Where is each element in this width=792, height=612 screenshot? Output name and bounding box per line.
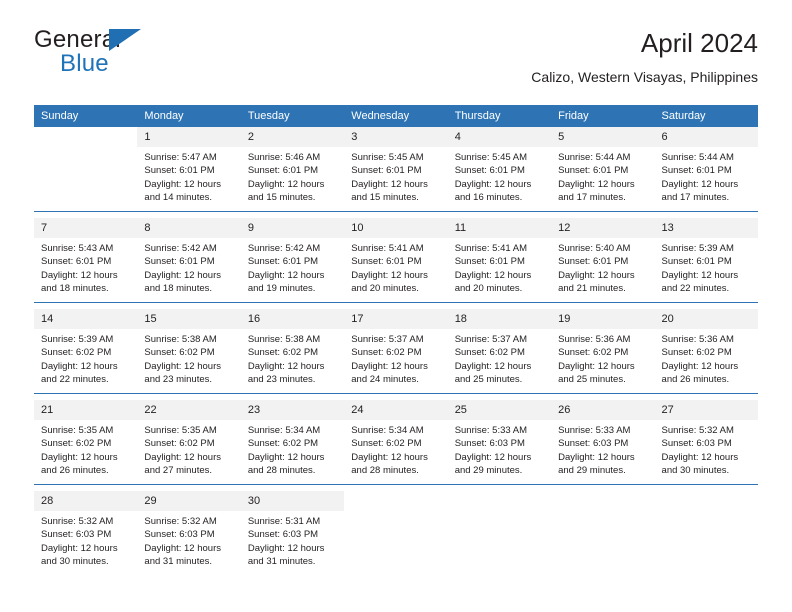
calendar-week-row: 1Sunrise: 5:47 AMSunset: 6:01 PMDaylight… — [34, 127, 758, 212]
calendar-day-cell[interactable]: 1Sunrise: 5:47 AMSunset: 6:01 PMDaylight… — [137, 127, 240, 212]
daylight-line-2: and 20 minutes. — [351, 282, 441, 295]
daylight-line-1: Daylight: 12 hours — [248, 269, 338, 282]
calendar-day-cell[interactable]: 19Sunrise: 5:36 AMSunset: 6:02 PMDayligh… — [551, 309, 654, 394]
day-number: 26 — [551, 400, 654, 420]
day-cell-inner: 12Sunrise: 5:40 AMSunset: 6:01 PMDayligh… — [551, 218, 654, 302]
calendar-day-cell[interactable]: 20Sunrise: 5:36 AMSunset: 6:02 PMDayligh… — [655, 309, 758, 394]
daylight-line-2: and 20 minutes. — [455, 282, 545, 295]
daylight-line-1: Daylight: 12 hours — [351, 360, 441, 373]
daylight-line-2: and 14 minutes. — [144, 191, 234, 204]
daylight-line-1: Daylight: 12 hours — [558, 360, 648, 373]
day-cell-inner: 17Sunrise: 5:37 AMSunset: 6:02 PMDayligh… — [344, 309, 447, 393]
sunrise-line: Sunrise: 5:41 AM — [455, 242, 545, 255]
sunrise-line: Sunrise: 5:32 AM — [144, 515, 234, 528]
sunrise-line: Sunrise: 5:39 AM — [41, 333, 131, 346]
calendar-empty-cell — [551, 491, 654, 575]
sunset-line: Sunset: 6:02 PM — [662, 346, 752, 359]
sunset-line: Sunset: 6:02 PM — [248, 346, 338, 359]
sunrise-line: Sunrise: 5:42 AM — [144, 242, 234, 255]
day-sun-details: Sunrise: 5:33 AMSunset: 6:03 PMDaylight:… — [448, 420, 551, 478]
day-sun-details: Sunrise: 5:44 AMSunset: 6:01 PMDaylight:… — [655, 147, 758, 205]
daylight-line-1: Daylight: 12 hours — [351, 178, 441, 191]
day-cell-inner: 28Sunrise: 5:32 AMSunset: 6:03 PMDayligh… — [34, 491, 137, 575]
calendar-day-cell[interactable]: 22Sunrise: 5:35 AMSunset: 6:02 PMDayligh… — [137, 400, 240, 485]
calendar-day-cell[interactable]: 8Sunrise: 5:42 AMSunset: 6:01 PMDaylight… — [137, 218, 240, 303]
day-number: 25 — [448, 400, 551, 420]
sunset-line: Sunset: 6:01 PM — [662, 255, 752, 268]
day-number — [34, 127, 137, 147]
daylight-line-1: Daylight: 12 hours — [248, 360, 338, 373]
daylight-line-2: and 22 minutes. — [41, 373, 131, 386]
day-sun-details: Sunrise: 5:39 AMSunset: 6:01 PMDaylight:… — [655, 238, 758, 296]
sunset-line: Sunset: 6:02 PM — [248, 437, 338, 450]
calendar-day-cell[interactable]: 16Sunrise: 5:38 AMSunset: 6:02 PMDayligh… — [241, 309, 344, 394]
sunrise-line: Sunrise: 5:40 AM — [558, 242, 648, 255]
day-cell-inner: 20Sunrise: 5:36 AMSunset: 6:02 PMDayligh… — [655, 309, 758, 393]
day-sun-details: Sunrise: 5:44 AMSunset: 6:01 PMDaylight:… — [551, 147, 654, 205]
sunrise-line: Sunrise: 5:37 AM — [351, 333, 441, 346]
day-cell-inner: 13Sunrise: 5:39 AMSunset: 6:01 PMDayligh… — [655, 218, 758, 302]
day-cell-inner: 25Sunrise: 5:33 AMSunset: 6:03 PMDayligh… — [448, 400, 551, 484]
day-number: 11 — [448, 218, 551, 238]
sunrise-sunset-calendar-table: SundayMondayTuesdayWednesdayThursdayFrid… — [34, 105, 758, 575]
weekday-header-thursday: Thursday — [448, 105, 551, 127]
day-cell-inner: 27Sunrise: 5:32 AMSunset: 6:03 PMDayligh… — [655, 400, 758, 484]
sunset-line: Sunset: 6:02 PM — [351, 346, 441, 359]
daylight-line-2: and 25 minutes. — [455, 373, 545, 386]
day-cell-inner — [34, 127, 137, 211]
calendar-day-cell[interactable]: 2Sunrise: 5:46 AMSunset: 6:01 PMDaylight… — [241, 127, 344, 212]
page-subtitle: Calizo, Western Visayas, Philippines — [531, 67, 758, 87]
day-number: 17 — [344, 309, 447, 329]
sunset-line: Sunset: 6:02 PM — [144, 437, 234, 450]
daylight-line-2: and 31 minutes. — [144, 555, 234, 568]
day-sun-details: Sunrise: 5:32 AMSunset: 6:03 PMDaylight:… — [34, 511, 137, 569]
calendar-page: General Blue April 2024 Calizo, Western … — [0, 0, 792, 612]
day-number: 18 — [448, 309, 551, 329]
day-cell-inner — [655, 491, 758, 575]
daylight-line-2: and 18 minutes. — [41, 282, 131, 295]
day-sun-details: Sunrise: 5:47 AMSunset: 6:01 PMDaylight:… — [137, 147, 240, 205]
daylight-line-2: and 18 minutes. — [144, 282, 234, 295]
day-cell-inner: 6Sunrise: 5:44 AMSunset: 6:01 PMDaylight… — [655, 127, 758, 211]
daylight-line-1: Daylight: 12 hours — [41, 360, 131, 373]
calendar-day-cell[interactable]: 27Sunrise: 5:32 AMSunset: 6:03 PMDayligh… — [655, 400, 758, 485]
daylight-line-2: and 31 minutes. — [248, 555, 338, 568]
sunset-line: Sunset: 6:01 PM — [248, 164, 338, 177]
calendar-day-cell[interactable]: 24Sunrise: 5:34 AMSunset: 6:02 PMDayligh… — [344, 400, 447, 485]
calendar-day-cell[interactable]: 4Sunrise: 5:45 AMSunset: 6:01 PMDaylight… — [448, 127, 551, 212]
day-cell-inner: 8Sunrise: 5:42 AMSunset: 6:01 PMDaylight… — [137, 218, 240, 302]
day-sun-details: Sunrise: 5:38 AMSunset: 6:02 PMDaylight:… — [241, 329, 344, 387]
calendar-day-cell[interactable]: 11Sunrise: 5:41 AMSunset: 6:01 PMDayligh… — [448, 218, 551, 303]
daylight-line-2: and 17 minutes. — [558, 191, 648, 204]
day-number — [448, 491, 551, 511]
daylight-line-1: Daylight: 12 hours — [662, 178, 752, 191]
daylight-line-2: and 15 minutes. — [351, 191, 441, 204]
sunrise-line: Sunrise: 5:41 AM — [351, 242, 441, 255]
day-cell-inner: 26Sunrise: 5:33 AMSunset: 6:03 PMDayligh… — [551, 400, 654, 484]
sunset-line: Sunset: 6:01 PM — [144, 164, 234, 177]
day-sun-details: Sunrise: 5:32 AMSunset: 6:03 PMDaylight:… — [137, 511, 240, 569]
daylight-line-1: Daylight: 12 hours — [662, 360, 752, 373]
day-number: 4 — [448, 127, 551, 147]
day-sun-details: Sunrise: 5:45 AMSunset: 6:01 PMDaylight:… — [448, 147, 551, 205]
sunrise-line: Sunrise: 5:39 AM — [662, 242, 752, 255]
page-title: April 2024 — [531, 26, 758, 60]
day-cell-inner: 30Sunrise: 5:31 AMSunset: 6:03 PMDayligh… — [241, 491, 344, 575]
day-sun-details: Sunrise: 5:33 AMSunset: 6:03 PMDaylight:… — [551, 420, 654, 478]
weekday-header-wednesday: Wednesday — [344, 105, 447, 127]
day-sun-details: Sunrise: 5:36 AMSunset: 6:02 PMDaylight:… — [655, 329, 758, 387]
daylight-line-1: Daylight: 12 hours — [144, 542, 234, 555]
sunset-line: Sunset: 6:02 PM — [41, 437, 131, 450]
day-cell-inner: 15Sunrise: 5:38 AMSunset: 6:02 PMDayligh… — [137, 309, 240, 393]
daylight-line-2: and 27 minutes. — [144, 464, 234, 477]
daylight-line-2: and 15 minutes. — [248, 191, 338, 204]
day-cell-inner — [551, 491, 654, 575]
daylight-line-2: and 26 minutes. — [41, 464, 131, 477]
daylight-line-2: and 22 minutes. — [662, 282, 752, 295]
calendar-day-cell[interactable]: 28Sunrise: 5:32 AMSunset: 6:03 PMDayligh… — [34, 491, 137, 575]
sunrise-line: Sunrise: 5:35 AM — [144, 424, 234, 437]
calendar-day-cell[interactable]: 5Sunrise: 5:44 AMSunset: 6:01 PMDaylight… — [551, 127, 654, 212]
day-number: 28 — [34, 491, 137, 511]
day-number: 30 — [241, 491, 344, 511]
day-cell-inner: 18Sunrise: 5:37 AMSunset: 6:02 PMDayligh… — [448, 309, 551, 393]
sunrise-line: Sunrise: 5:43 AM — [41, 242, 131, 255]
sunset-line: Sunset: 6:01 PM — [455, 255, 545, 268]
day-number: 1 — [137, 127, 240, 147]
day-cell-inner: 23Sunrise: 5:34 AMSunset: 6:02 PMDayligh… — [241, 400, 344, 484]
daylight-line-2: and 19 minutes. — [248, 282, 338, 295]
calendar-day-cell[interactable]: 30Sunrise: 5:31 AMSunset: 6:03 PMDayligh… — [241, 491, 344, 575]
daylight-line-2: and 16 minutes. — [455, 191, 545, 204]
day-number: 5 — [551, 127, 654, 147]
sunrise-line: Sunrise: 5:35 AM — [41, 424, 131, 437]
weekday-header-monday: Monday — [137, 105, 240, 127]
daylight-line-2: and 25 minutes. — [558, 373, 648, 386]
daylight-line-1: Daylight: 12 hours — [144, 451, 234, 464]
sunrise-line: Sunrise: 5:36 AM — [662, 333, 752, 346]
daylight-line-2: and 23 minutes. — [248, 373, 338, 386]
day-cell-inner: 4Sunrise: 5:45 AMSunset: 6:01 PMDaylight… — [448, 127, 551, 211]
daylight-line-1: Daylight: 12 hours — [248, 542, 338, 555]
daylight-line-2: and 26 minutes. — [662, 373, 752, 386]
day-number: 7 — [34, 218, 137, 238]
sunrise-line: Sunrise: 5:45 AM — [455, 151, 545, 164]
daylight-line-2: and 29 minutes. — [455, 464, 545, 477]
calendar-day-cell[interactable]: 17Sunrise: 5:37 AMSunset: 6:02 PMDayligh… — [344, 309, 447, 394]
day-number: 27 — [655, 400, 758, 420]
sunset-line: Sunset: 6:03 PM — [455, 437, 545, 450]
sunrise-line: Sunrise: 5:45 AM — [351, 151, 441, 164]
sunrise-line: Sunrise: 5:38 AM — [248, 333, 338, 346]
day-cell-inner: 21Sunrise: 5:35 AMSunset: 6:02 PMDayligh… — [34, 400, 137, 484]
sunset-line: Sunset: 6:02 PM — [144, 346, 234, 359]
daylight-line-1: Daylight: 12 hours — [558, 269, 648, 282]
sunrise-line: Sunrise: 5:33 AM — [558, 424, 648, 437]
day-cell-inner: 10Sunrise: 5:41 AMSunset: 6:01 PMDayligh… — [344, 218, 447, 302]
day-number: 29 — [137, 491, 240, 511]
day-number: 23 — [241, 400, 344, 420]
calendar-empty-cell — [344, 491, 447, 575]
sunrise-line: Sunrise: 5:32 AM — [662, 424, 752, 437]
daylight-line-1: Daylight: 12 hours — [455, 178, 545, 191]
page-header: General Blue April 2024 Calizo, Western … — [34, 26, 758, 96]
calendar-day-cell[interactable]: 12Sunrise: 5:40 AMSunset: 6:01 PMDayligh… — [551, 218, 654, 303]
day-cell-inner: 22Sunrise: 5:35 AMSunset: 6:02 PMDayligh… — [137, 400, 240, 484]
day-cell-inner: 3Sunrise: 5:45 AMSunset: 6:01 PMDaylight… — [344, 127, 447, 211]
weekday-header-row: SundayMondayTuesdayWednesdayThursdayFrid… — [34, 105, 758, 127]
sunrise-line: Sunrise: 5:38 AM — [144, 333, 234, 346]
sunset-line: Sunset: 6:03 PM — [144, 528, 234, 541]
day-number — [551, 491, 654, 511]
sunset-line: Sunset: 6:01 PM — [351, 255, 441, 268]
day-number: 15 — [137, 309, 240, 329]
day-number — [344, 491, 447, 511]
brand-logo[interactable]: General Blue — [34, 26, 264, 84]
day-number: 16 — [241, 309, 344, 329]
day-cell-inner: 16Sunrise: 5:38 AMSunset: 6:02 PMDayligh… — [241, 309, 344, 393]
sunset-line: Sunset: 6:03 PM — [662, 437, 752, 450]
day-number: 2 — [241, 127, 344, 147]
weekday-header-friday: Friday — [551, 105, 654, 127]
day-number: 9 — [241, 218, 344, 238]
title-block: April 2024 Calizo, Western Visayas, Phil… — [531, 26, 758, 87]
calendar-day-cell[interactable]: 13Sunrise: 5:39 AMSunset: 6:01 PMDayligh… — [655, 218, 758, 303]
daylight-line-1: Daylight: 12 hours — [558, 451, 648, 464]
calendar-day-cell[interactable]: 14Sunrise: 5:39 AMSunset: 6:02 PMDayligh… — [34, 309, 137, 394]
day-sun-details: Sunrise: 5:37 AMSunset: 6:02 PMDaylight:… — [344, 329, 447, 387]
day-sun-details: Sunrise: 5:42 AMSunset: 6:01 PMDaylight:… — [137, 238, 240, 296]
daylight-line-2: and 23 minutes. — [144, 373, 234, 386]
daylight-line-1: Daylight: 12 hours — [144, 269, 234, 282]
calendar-week-row: 21Sunrise: 5:35 AMSunset: 6:02 PMDayligh… — [34, 400, 758, 485]
weekday-header-sunday: Sunday — [34, 105, 137, 127]
calendar-day-cell[interactable]: 7Sunrise: 5:43 AMSunset: 6:01 PMDaylight… — [34, 218, 137, 303]
day-number — [655, 491, 758, 511]
calendar-empty-cell — [655, 491, 758, 575]
calendar-day-cell[interactable]: 6Sunrise: 5:44 AMSunset: 6:01 PMDaylight… — [655, 127, 758, 212]
weekday-header-tuesday: Tuesday — [241, 105, 344, 127]
calendar-week-row: 14Sunrise: 5:39 AMSunset: 6:02 PMDayligh… — [34, 309, 758, 394]
daylight-line-2: and 17 minutes. — [662, 191, 752, 204]
triangle-flag-icon — [109, 29, 141, 51]
daylight-line-2: and 28 minutes. — [351, 464, 441, 477]
sunset-line: Sunset: 6:03 PM — [558, 437, 648, 450]
daylight-line-1: Daylight: 12 hours — [144, 178, 234, 191]
day-cell-inner: 2Sunrise: 5:46 AMSunset: 6:01 PMDaylight… — [241, 127, 344, 211]
daylight-line-1: Daylight: 12 hours — [662, 269, 752, 282]
day-cell-inner: 29Sunrise: 5:32 AMSunset: 6:03 PMDayligh… — [137, 491, 240, 575]
daylight-line-1: Daylight: 12 hours — [558, 178, 648, 191]
calendar-day-cell[interactable]: 26Sunrise: 5:33 AMSunset: 6:03 PMDayligh… — [551, 400, 654, 485]
sunset-line: Sunset: 6:02 PM — [351, 437, 441, 450]
day-sun-details: Sunrise: 5:34 AMSunset: 6:02 PMDaylight:… — [344, 420, 447, 478]
day-sun-details: Sunrise: 5:43 AMSunset: 6:01 PMDaylight:… — [34, 238, 137, 296]
day-number: 19 — [551, 309, 654, 329]
day-cell-inner — [448, 491, 551, 575]
day-sun-details: Sunrise: 5:45 AMSunset: 6:01 PMDaylight:… — [344, 147, 447, 205]
calendar-empty-cell — [448, 491, 551, 575]
day-sun-details: Sunrise: 5:35 AMSunset: 6:02 PMDaylight:… — [137, 420, 240, 478]
sunrise-line: Sunrise: 5:34 AM — [248, 424, 338, 437]
day-sun-details: Sunrise: 5:35 AMSunset: 6:02 PMDaylight:… — [34, 420, 137, 478]
sunrise-line: Sunrise: 5:31 AM — [248, 515, 338, 528]
daylight-line-1: Daylight: 12 hours — [351, 451, 441, 464]
day-cell-inner — [344, 491, 447, 575]
daylight-line-1: Daylight: 12 hours — [455, 451, 545, 464]
sunrise-line: Sunrise: 5:44 AM — [558, 151, 648, 164]
calendar-day-cell[interactable]: 3Sunrise: 5:45 AMSunset: 6:01 PMDaylight… — [344, 127, 447, 212]
daylight-line-1: Daylight: 12 hours — [41, 269, 131, 282]
weekday-header-saturday: Saturday — [655, 105, 758, 127]
day-number: 3 — [344, 127, 447, 147]
day-sun-details: Sunrise: 5:32 AMSunset: 6:03 PMDaylight:… — [655, 420, 758, 478]
brand-name-blue: Blue — [60, 50, 109, 78]
calendar-day-cell[interactable]: 15Sunrise: 5:38 AMSunset: 6:02 PMDayligh… — [137, 309, 240, 394]
sunset-line: Sunset: 6:03 PM — [248, 528, 338, 541]
sunset-line: Sunset: 6:02 PM — [41, 346, 131, 359]
sunset-line: Sunset: 6:01 PM — [558, 164, 648, 177]
sunset-line: Sunset: 6:01 PM — [41, 255, 131, 268]
calendar-header-row: SundayMondayTuesdayWednesdayThursdayFrid… — [34, 105, 758, 127]
day-cell-inner: 7Sunrise: 5:43 AMSunset: 6:01 PMDaylight… — [34, 218, 137, 302]
daylight-line-1: Daylight: 12 hours — [455, 360, 545, 373]
day-sun-details: Sunrise: 5:40 AMSunset: 6:01 PMDaylight:… — [551, 238, 654, 296]
daylight-line-1: Daylight: 12 hours — [144, 360, 234, 373]
sunrise-line: Sunrise: 5:42 AM — [248, 242, 338, 255]
calendar-body: 1Sunrise: 5:47 AMSunset: 6:01 PMDaylight… — [34, 127, 758, 575]
sunrise-line: Sunrise: 5:33 AM — [455, 424, 545, 437]
calendar-day-cell[interactable]: 9Sunrise: 5:42 AMSunset: 6:01 PMDaylight… — [241, 218, 344, 303]
calendar-day-cell[interactable]: 10Sunrise: 5:41 AMSunset: 6:01 PMDayligh… — [344, 218, 447, 303]
calendar-day-cell[interactable]: 18Sunrise: 5:37 AMSunset: 6:02 PMDayligh… — [448, 309, 551, 394]
day-sun-details: Sunrise: 5:34 AMSunset: 6:02 PMDaylight:… — [241, 420, 344, 478]
sunset-line: Sunset: 6:02 PM — [558, 346, 648, 359]
calendar-empty-cell — [34, 127, 137, 212]
day-cell-inner: 14Sunrise: 5:39 AMSunset: 6:02 PMDayligh… — [34, 309, 137, 393]
day-number: 6 — [655, 127, 758, 147]
daylight-line-1: Daylight: 12 hours — [248, 451, 338, 464]
day-sun-details: Sunrise: 5:41 AMSunset: 6:01 PMDaylight:… — [344, 238, 447, 296]
daylight-line-2: and 30 minutes. — [662, 464, 752, 477]
day-sun-details: Sunrise: 5:31 AMSunset: 6:03 PMDaylight:… — [241, 511, 344, 569]
sunset-line: Sunset: 6:01 PM — [558, 255, 648, 268]
day-sun-details: Sunrise: 5:37 AMSunset: 6:02 PMDaylight:… — [448, 329, 551, 387]
daylight-line-1: Daylight: 12 hours — [41, 542, 131, 555]
day-sun-details: Sunrise: 5:42 AMSunset: 6:01 PMDaylight:… — [241, 238, 344, 296]
calendar-day-cell[interactable]: 29Sunrise: 5:32 AMSunset: 6:03 PMDayligh… — [137, 491, 240, 575]
sunset-line: Sunset: 6:03 PM — [41, 528, 131, 541]
sunrise-line: Sunrise: 5:34 AM — [351, 424, 441, 437]
day-cell-inner: 24Sunrise: 5:34 AMSunset: 6:02 PMDayligh… — [344, 400, 447, 484]
sunrise-line: Sunrise: 5:47 AM — [144, 151, 234, 164]
daylight-line-2: and 30 minutes. — [41, 555, 131, 568]
calendar-day-cell[interactable]: 21Sunrise: 5:35 AMSunset: 6:02 PMDayligh… — [34, 400, 137, 485]
day-cell-inner: 1Sunrise: 5:47 AMSunset: 6:01 PMDaylight… — [137, 127, 240, 211]
sunrise-line: Sunrise: 5:32 AM — [41, 515, 131, 528]
calendar-week-row: 7Sunrise: 5:43 AMSunset: 6:01 PMDaylight… — [34, 218, 758, 303]
sunset-line: Sunset: 6:01 PM — [144, 255, 234, 268]
daylight-line-2: and 28 minutes. — [248, 464, 338, 477]
daylight-line-2: and 29 minutes. — [558, 464, 648, 477]
day-sun-details: Sunrise: 5:36 AMSunset: 6:02 PMDaylight:… — [551, 329, 654, 387]
day-cell-inner: 11Sunrise: 5:41 AMSunset: 6:01 PMDayligh… — [448, 218, 551, 302]
day-number: 22 — [137, 400, 240, 420]
daylight-line-2: and 21 minutes. — [558, 282, 648, 295]
sunrise-line: Sunrise: 5:46 AM — [248, 151, 338, 164]
daylight-line-1: Daylight: 12 hours — [248, 178, 338, 191]
sunset-line: Sunset: 6:02 PM — [455, 346, 545, 359]
day-cell-inner: 5Sunrise: 5:44 AMSunset: 6:01 PMDaylight… — [551, 127, 654, 211]
sunrise-line: Sunrise: 5:44 AM — [662, 151, 752, 164]
day-cell-inner: 19Sunrise: 5:36 AMSunset: 6:02 PMDayligh… — [551, 309, 654, 393]
sunset-line: Sunset: 6:01 PM — [455, 164, 545, 177]
calendar-week-row: 28Sunrise: 5:32 AMSunset: 6:03 PMDayligh… — [34, 491, 758, 575]
day-number: 8 — [137, 218, 240, 238]
sunset-line: Sunset: 6:01 PM — [662, 164, 752, 177]
daylight-line-1: Daylight: 12 hours — [41, 451, 131, 464]
day-number: 13 — [655, 218, 758, 238]
sunrise-line: Sunrise: 5:37 AM — [455, 333, 545, 346]
day-cell-inner: 9Sunrise: 5:42 AMSunset: 6:01 PMDaylight… — [241, 218, 344, 302]
day-number: 20 — [655, 309, 758, 329]
day-number: 12 — [551, 218, 654, 238]
day-number: 24 — [344, 400, 447, 420]
day-sun-details: Sunrise: 5:38 AMSunset: 6:02 PMDaylight:… — [137, 329, 240, 387]
sunset-line: Sunset: 6:01 PM — [351, 164, 441, 177]
calendar-day-cell[interactable]: 23Sunrise: 5:34 AMSunset: 6:02 PMDayligh… — [241, 400, 344, 485]
day-sun-details: Sunrise: 5:46 AMSunset: 6:01 PMDaylight:… — [241, 147, 344, 205]
sunset-line: Sunset: 6:01 PM — [248, 255, 338, 268]
calendar-day-cell[interactable]: 25Sunrise: 5:33 AMSunset: 6:03 PMDayligh… — [448, 400, 551, 485]
day-number: 10 — [344, 218, 447, 238]
sunrise-line: Sunrise: 5:36 AM — [558, 333, 648, 346]
daylight-line-2: and 24 minutes. — [351, 373, 441, 386]
daylight-line-1: Daylight: 12 hours — [455, 269, 545, 282]
day-sun-details: Sunrise: 5:39 AMSunset: 6:02 PMDaylight:… — [34, 329, 137, 387]
daylight-line-1: Daylight: 12 hours — [662, 451, 752, 464]
daylight-line-1: Daylight: 12 hours — [351, 269, 441, 282]
day-number: 14 — [34, 309, 137, 329]
day-number: 21 — [34, 400, 137, 420]
day-sun-details: Sunrise: 5:41 AMSunset: 6:01 PMDaylight:… — [448, 238, 551, 296]
